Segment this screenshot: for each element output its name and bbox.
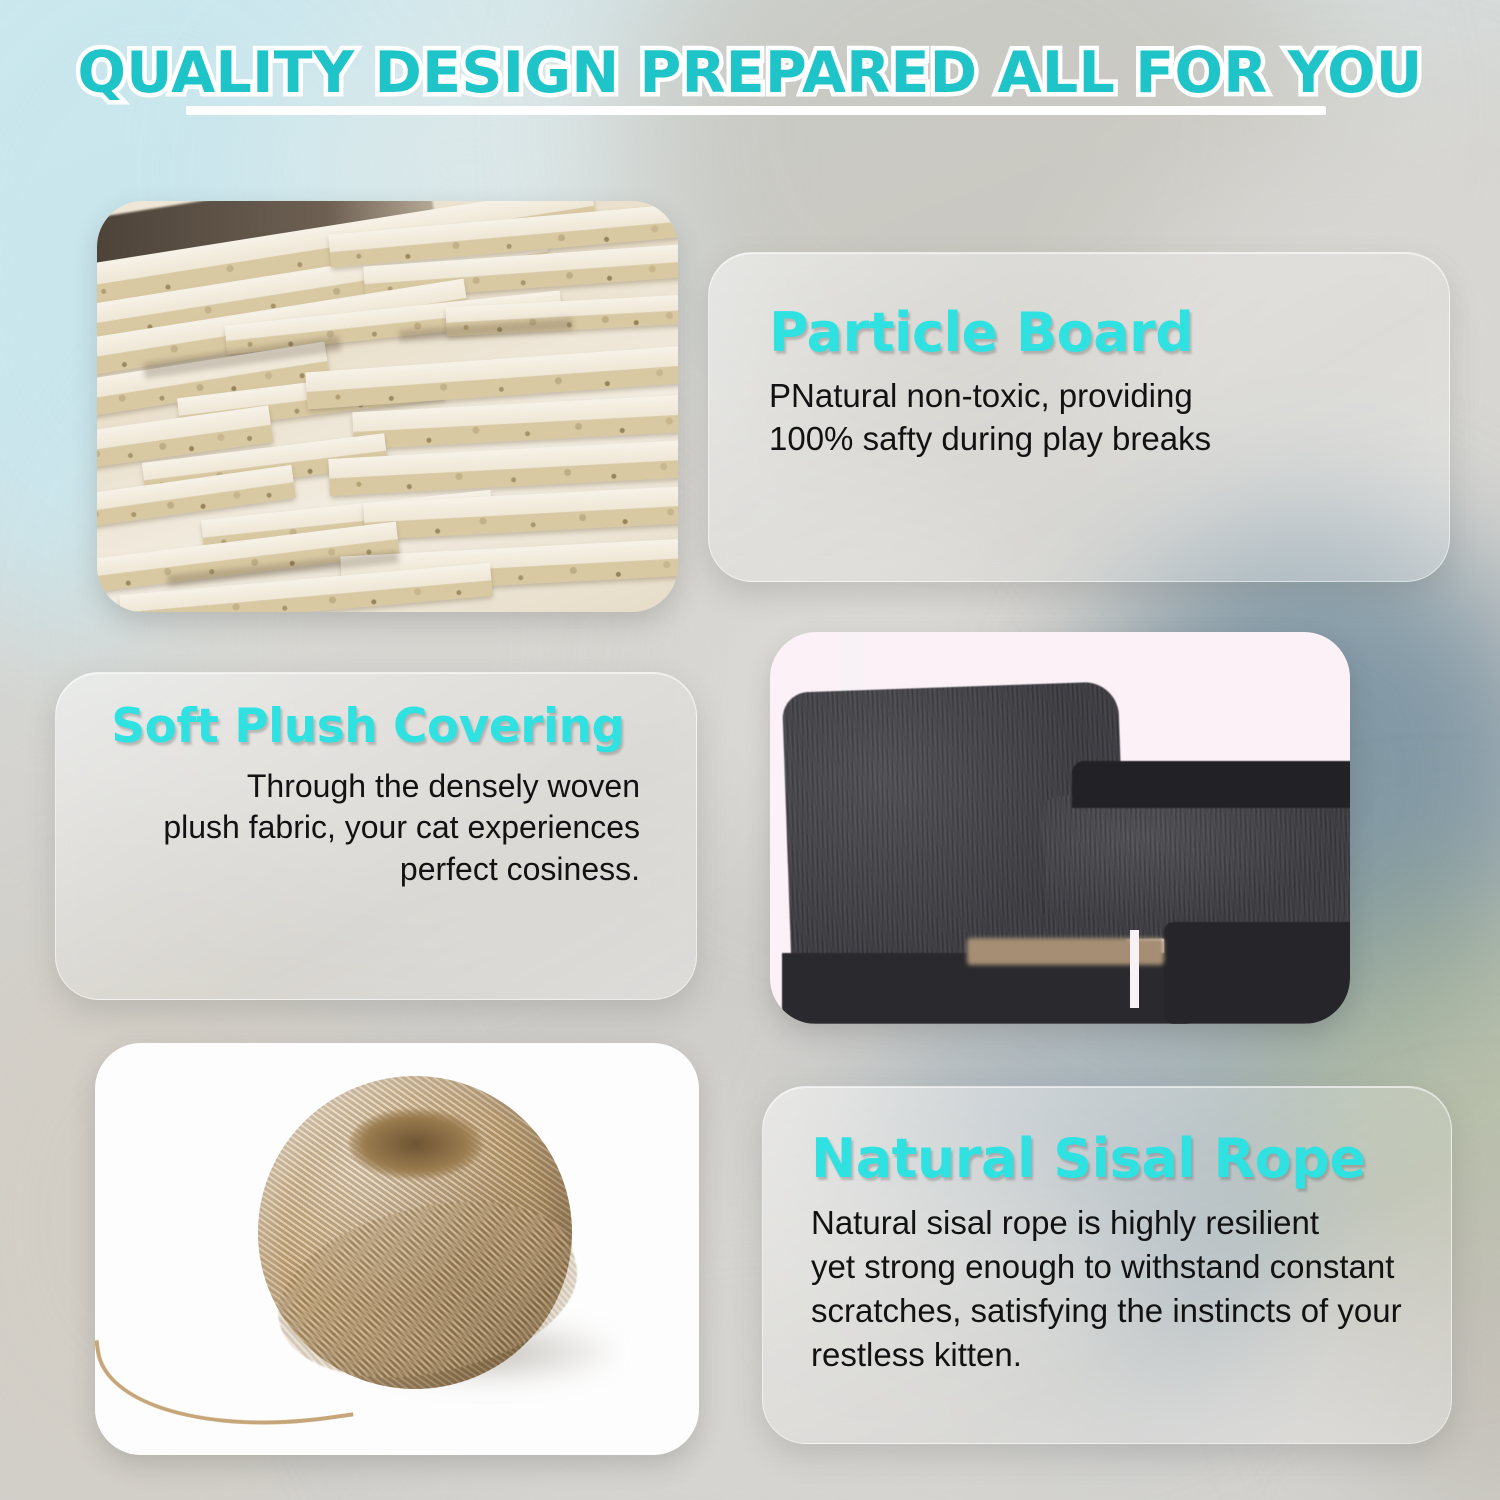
plush-white-tag xyxy=(840,632,863,699)
plush-fabric-photo xyxy=(770,632,1350,1024)
title-underline-rule xyxy=(186,106,1326,115)
feature-card-soft-plush-covering: Soft Plush Covering Through the densely … xyxy=(55,672,697,1000)
rope-center-hole xyxy=(349,1109,482,1179)
sisal-rope-photo xyxy=(95,1043,699,1455)
header: QUALITY DESIGN PREPARED ALL FOR YOU xyxy=(0,44,1500,104)
particle-board-photo xyxy=(97,201,678,612)
plush-seam-highlight xyxy=(1130,930,1139,1008)
feature-title-natural-sisal-rope: Natural Sisal Rope xyxy=(811,1131,1411,1187)
feature-title-soft-plush-covering: Soft Plush Covering xyxy=(96,703,640,752)
plush-cushion-rear xyxy=(1041,790,1350,941)
feature-title-particle-board: Particle Board xyxy=(769,305,1391,361)
plush-rim-shadow xyxy=(1072,761,1350,808)
feature-body-particle-board: PNatural non-toxic, providing 100% safty… xyxy=(769,375,1391,461)
feature-body-soft-plush-covering: Through the densely woven plush fabric, … xyxy=(96,766,640,891)
page-title: QUALITY DESIGN PREPARED ALL FOR YOU xyxy=(78,44,1423,104)
feature-card-natural-sisal-rope: Natural Sisal Rope Natural sisal rope is… xyxy=(762,1086,1452,1444)
feature-card-particle-board: Particle Board PNatural non-toxic, provi… xyxy=(708,252,1450,582)
plush-lower-panel xyxy=(1164,922,1350,1024)
feature-body-natural-sisal-rope: Natural sisal rope is highly resilient y… xyxy=(811,1201,1411,1377)
infographic-page: QUALITY DESIGN PREPARED ALL FOR YOU xyxy=(0,0,1500,1500)
